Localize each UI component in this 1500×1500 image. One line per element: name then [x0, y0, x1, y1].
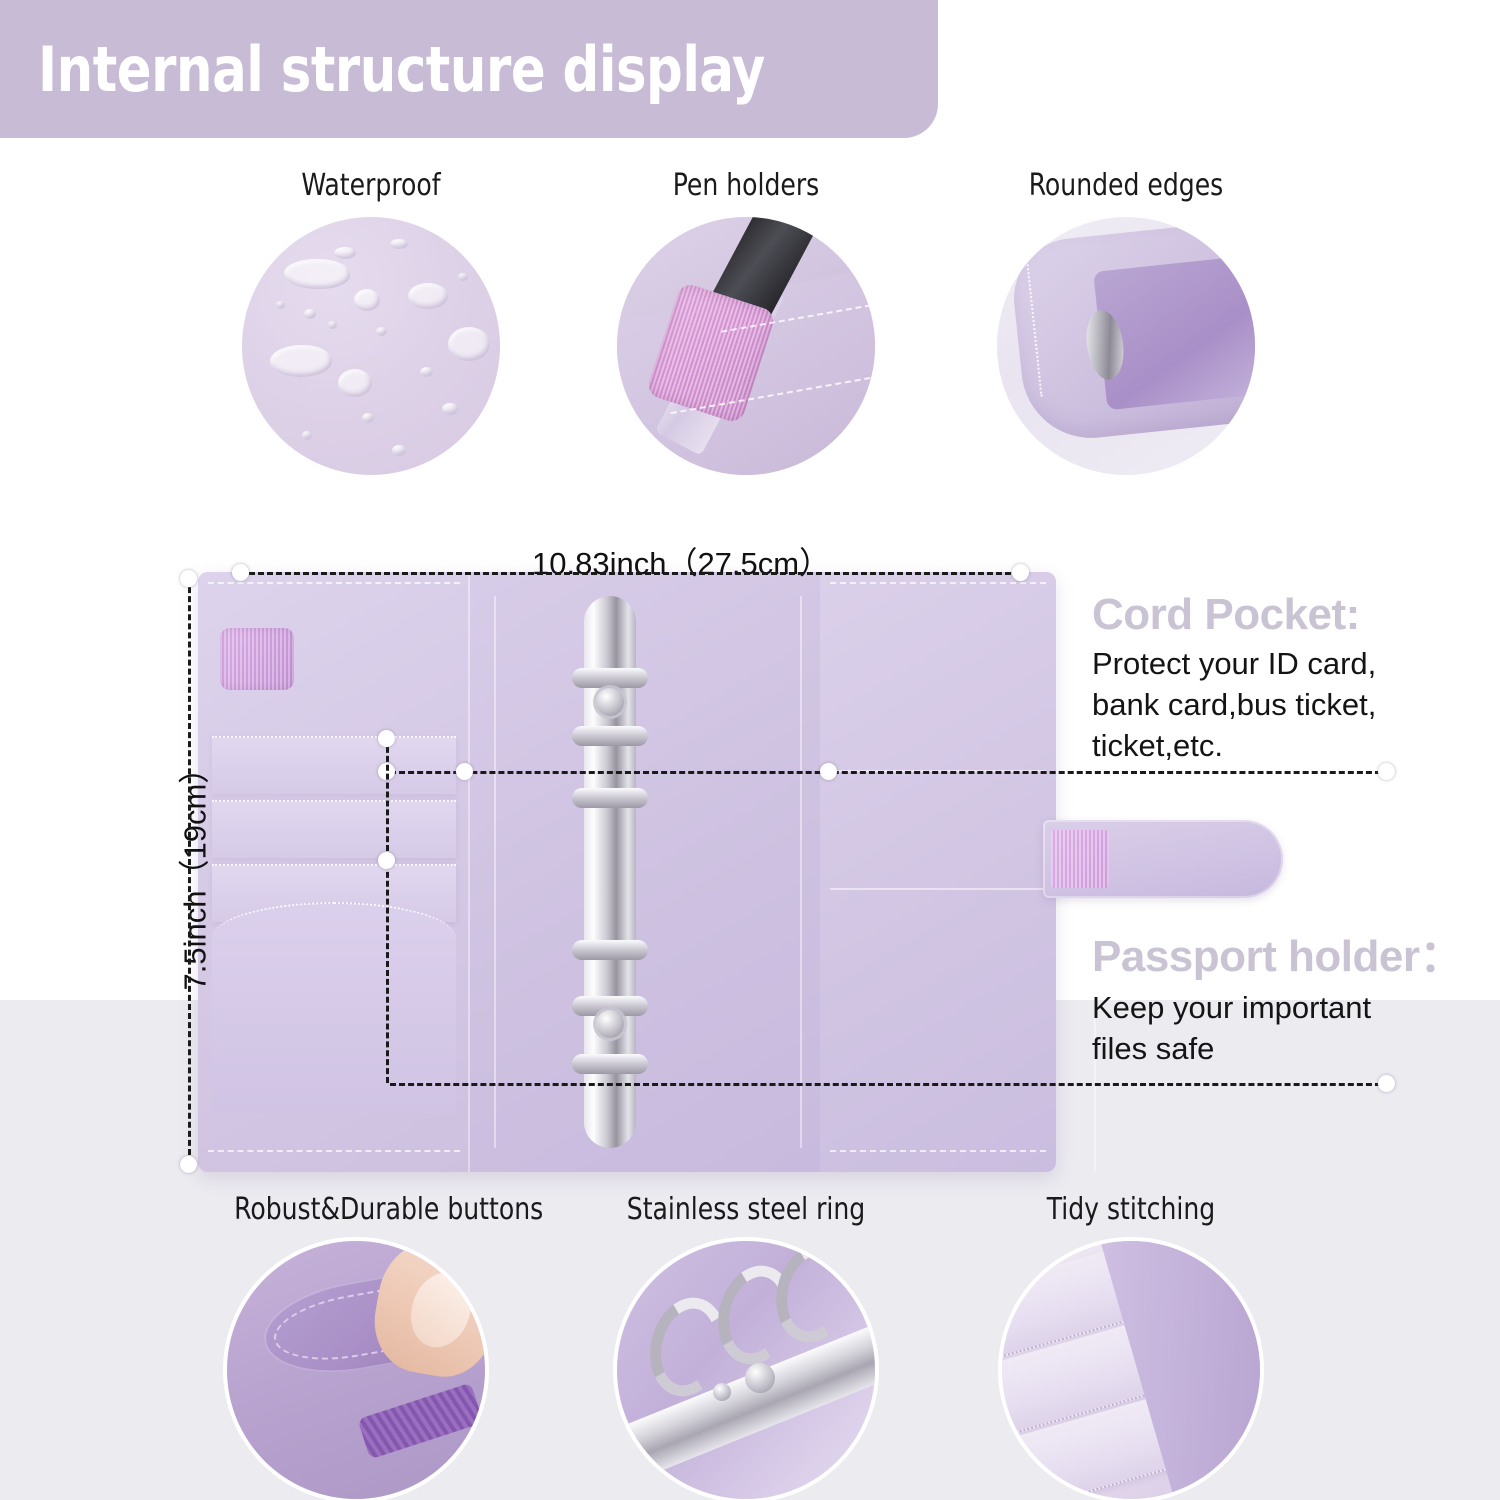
feature-steel-ring: Stainless steel ring — [615, 1192, 877, 1499]
ring-pair — [572, 940, 648, 960]
feature-label-waterproof: Waterproof — [249, 168, 493, 203]
feature-rounded-edges: Rounded edges — [995, 168, 1257, 475]
leader-dot — [378, 852, 395, 869]
feature-waterproof: Waterproof — [240, 168, 502, 475]
callout-line: Keep your important — [1092, 988, 1463, 1029]
stitching — [208, 582, 460, 584]
dimension-endpoint-dot — [180, 1156, 197, 1173]
feature-label-stitching: Tidy stitching — [1009, 1192, 1253, 1227]
feature-pen-holders: Pen holders — [615, 168, 877, 475]
stitching — [830, 1150, 1046, 1152]
waterproof-photo — [242, 217, 500, 475]
ring-rivet — [596, 688, 624, 716]
callout-title-cord-pocket: Cord Pocket: — [1092, 590, 1376, 640]
stitching-photo — [1002, 1241, 1260, 1499]
callout-title-passport-holder: Passport holder： — [1092, 920, 1463, 984]
passport-leader-line — [390, 1083, 1390, 1086]
callout-cord-pocket: Cord Pocket: Protect your ID card, bank … — [1092, 590, 1376, 767]
rounded-edges-photo — [997, 217, 1255, 475]
leader-dot — [456, 763, 473, 780]
passport-closure-strap — [1043, 820, 1283, 898]
feature-label-steel-ring: Stainless steel ring — [624, 1192, 868, 1227]
feature-stitching: Tidy stitching — [1000, 1192, 1262, 1499]
callout-line: ticket,etc. — [1092, 726, 1376, 767]
leader-dot — [820, 763, 837, 780]
height-dimension-label: 7.5inch（19cm） — [170, 771, 215, 991]
ring-rivet — [596, 1010, 624, 1038]
steel-ring-photo — [617, 1241, 875, 1499]
binder-center-panel — [470, 572, 820, 1172]
pen-loop — [220, 628, 294, 690]
ring-pair — [572, 726, 648, 746]
binder-left-panel — [198, 572, 470, 1172]
width-dimension-label: 10.83inch（27.5cm） — [532, 538, 830, 583]
stitching — [208, 1150, 460, 1152]
buttons-photo — [227, 1241, 485, 1499]
elastic-band — [1051, 830, 1109, 888]
feature-buttons: Robust&Durable buttons — [225, 1192, 487, 1499]
pen-holder-photo — [617, 217, 875, 475]
header-banner: Internal structure display — [0, 0, 938, 138]
card-slot — [212, 800, 456, 858]
card-slot — [212, 736, 456, 794]
callout-body-cord-pocket: Protect your ID card, bank card,bus tick… — [1092, 644, 1376, 767]
dimension-endpoint-dot — [180, 570, 197, 587]
callout-body-passport-holder: Keep your important files safe — [1092, 988, 1463, 1070]
callout-line: Protect your ID card, — [1092, 644, 1376, 685]
leader-dot — [1378, 1075, 1395, 1092]
binder-right-panel — [820, 572, 1056, 1172]
callout-line: bank card,bus ticket, — [1092, 685, 1376, 726]
feature-label-pen-holders: Pen holders — [624, 168, 868, 203]
feature-label-buttons: Robust&Durable buttons — [234, 1192, 478, 1227]
callout-passport-holder: Passport holder： Keep your important fil… — [1092, 920, 1463, 1070]
leader-dot — [378, 730, 395, 747]
ring-pair — [572, 668, 648, 688]
cord-pocket-leader-vertical — [386, 738, 389, 1083]
callout-line: files safe — [1092, 1029, 1463, 1070]
stitching — [830, 582, 1046, 584]
cord-pocket-leader-line — [390, 771, 1390, 774]
binder-body — [198, 572, 1056, 1172]
height-dimension-line — [188, 578, 191, 1164]
feature-label-rounded-edges: Rounded edges — [1004, 168, 1248, 203]
ring-pair — [572, 788, 648, 808]
leader-dot — [1378, 763, 1395, 780]
ring-pair — [572, 1054, 648, 1074]
page-title: Internal structure display — [38, 33, 765, 106]
width-dimension-line — [240, 572, 1020, 575]
dimension-endpoint-dot — [1012, 564, 1029, 581]
dimension-endpoint-dot — [232, 564, 249, 581]
product-photo — [198, 572, 1056, 1172]
